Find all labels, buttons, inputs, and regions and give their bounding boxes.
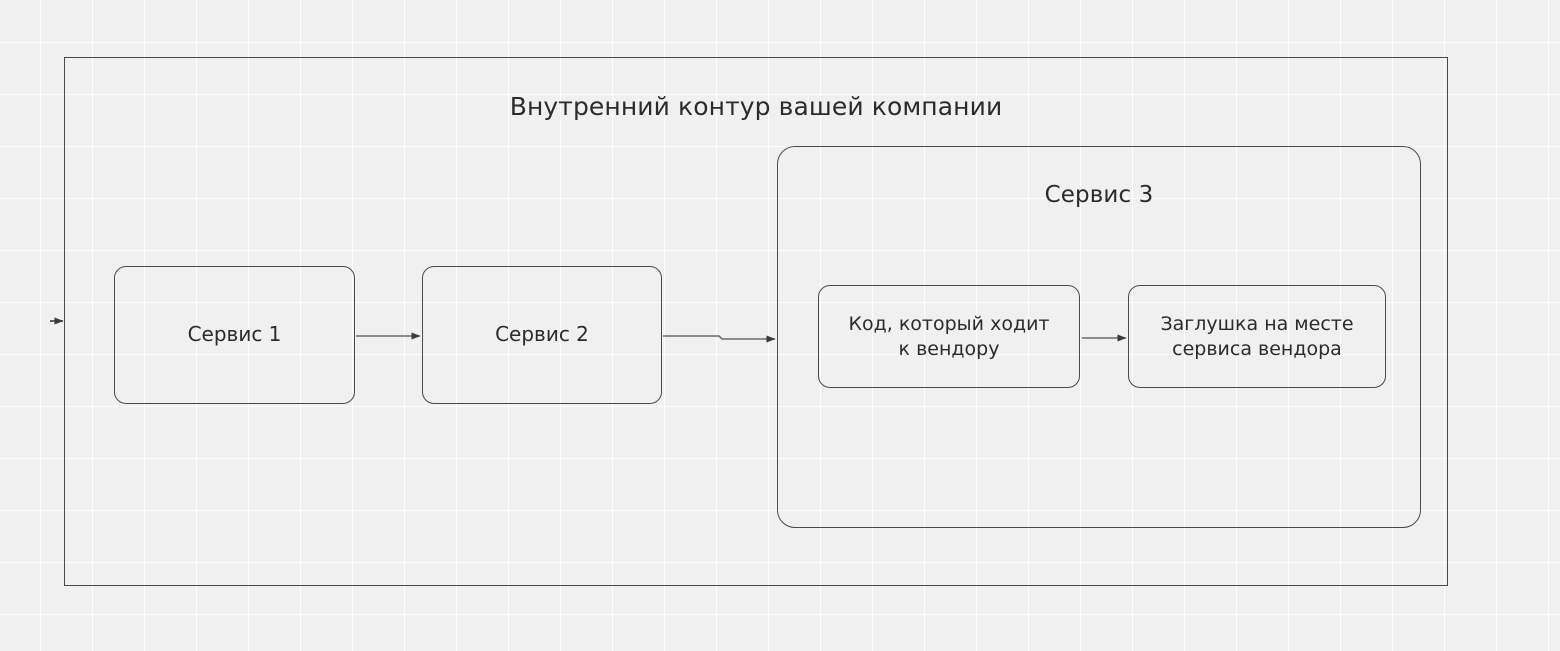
node-vendor-stub-label: Заглушка на месте сервиса вендора xyxy=(1158,312,1355,361)
node-service1[interactable]: Сервис 1 xyxy=(114,266,355,404)
node-service1-label: Сервис 1 xyxy=(186,322,284,348)
node-vendor-stub-label-line1: Заглушка на месте xyxy=(1160,313,1353,335)
node-vendor-code-label-line1: Код, который ходит xyxy=(849,313,1050,335)
group-title-service3: Сервис 3 xyxy=(777,182,1421,208)
node-vendor-stub-label-line2: сервиса вендора xyxy=(1172,338,1342,360)
outer-container-title: Внутренний контур вашей компании xyxy=(64,92,1448,121)
diagram-canvas: Внутренний контур вашей компании Сервис … xyxy=(0,0,1560,651)
node-vendor-code-label-line2: к вендору xyxy=(899,338,1000,360)
node-service2-label: Сервис 2 xyxy=(493,322,591,348)
node-vendor-code-label: Код, который ходит к вендору xyxy=(847,312,1052,361)
node-service2[interactable]: Сервис 2 xyxy=(422,266,662,404)
node-vendor-code[interactable]: Код, который ходит к вендору xyxy=(818,285,1080,388)
node-vendor-stub[interactable]: Заглушка на месте сервиса вендора xyxy=(1128,285,1386,388)
